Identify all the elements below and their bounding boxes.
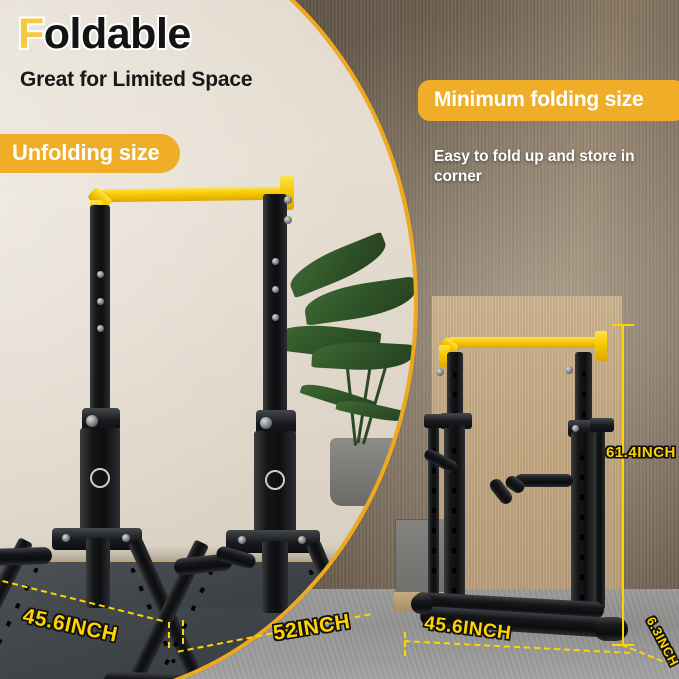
unfolding-size-badge: Unfolding size <box>0 134 180 173</box>
left-post-hole <box>97 298 104 305</box>
folded-right-leg-clamp <box>590 418 614 432</box>
page-subtitle: Great for Limited Space <box>20 68 252 92</box>
right-center-leg <box>262 541 288 613</box>
dim-label-height: 61.4INCH <box>606 444 676 461</box>
folded-top-bar-right-drop <box>595 331 607 361</box>
left-scene-oval-frame <box>0 0 418 679</box>
right-post-hole <box>272 314 279 321</box>
left-post-hole <box>97 325 104 332</box>
folded-right-lower-holes <box>580 455 584 603</box>
potted-plant-decor <box>278 238 418 498</box>
right-post-ring <box>265 470 285 490</box>
right-post-hole <box>272 286 279 293</box>
left-dip-handle <box>0 547 52 566</box>
left-depth-dim-tick <box>168 622 170 648</box>
folded-right-clamp-bolt <box>572 425 579 432</box>
folded-right-post-bolt <box>565 366 573 374</box>
title-highlight-letter: F <box>18 10 44 58</box>
left-upper-post <box>90 205 110 420</box>
folded-left-post-bolt <box>436 368 444 376</box>
top-crossbar <box>100 187 286 203</box>
title-rest: oldable <box>44 10 191 58</box>
right-post-hole <box>272 258 279 265</box>
folded-left-leg-clamp <box>424 414 450 428</box>
right-upper-post <box>263 194 287 422</box>
left-bracket-bolt <box>62 534 70 542</box>
left-clamp-knob <box>86 415 98 427</box>
folded-right-leg-stowed <box>594 424 605 610</box>
folded-base-foot-left <box>411 594 433 614</box>
left-scene <box>0 0 414 679</box>
right-post-top-bolt <box>284 216 292 224</box>
infographic-canvas: 61.4INCH 45.6INCH 6.3INCH Minimum foldin… <box>0 0 679 679</box>
left-post-hole <box>97 271 104 278</box>
height-dim-line <box>622 324 624 646</box>
left-width-dim-tick <box>182 620 184 644</box>
left-post-ring <box>90 468 110 488</box>
left-center-leg <box>86 538 110 608</box>
right-panel-subtitle: Easy to fold up and store in corner <box>434 147 670 187</box>
folded-top-bar <box>448 337 600 348</box>
page-title: Foldable <box>18 13 191 56</box>
folded-left-leg-holes <box>432 448 436 588</box>
plant-pot <box>330 438 400 506</box>
minimum-folding-size-badge: Minimum folding size <box>418 80 679 121</box>
right-bracket-bolt <box>238 536 246 544</box>
right-bracket-bolt <box>298 536 306 544</box>
right-post-top-bolt <box>284 196 292 204</box>
left-bracket-bolt <box>122 534 130 542</box>
right-clamp-knob <box>260 417 272 429</box>
